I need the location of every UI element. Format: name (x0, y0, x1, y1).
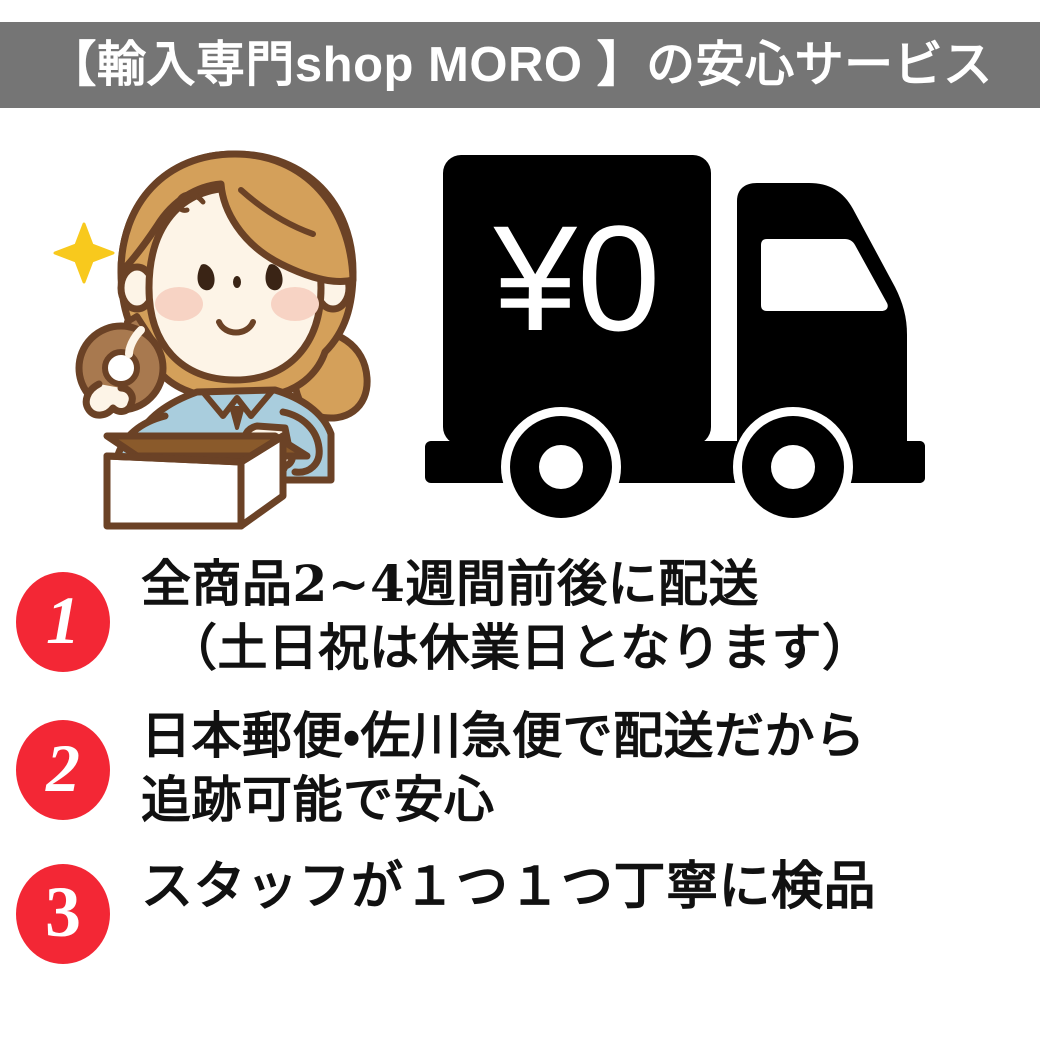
service-number-badge-3: 3 (16, 864, 110, 964)
truck-wheel-rear (501, 407, 621, 525)
service-number-badge-2: 2 (16, 720, 110, 820)
service-number-1: 1 (16, 572, 110, 672)
illustration-area: ¥0 ¥0 (0, 120, 1040, 540)
truck-cab (737, 183, 907, 445)
service-list: 1 全商品2~4週間前後に配送 （土日祝は休業日となります） 2 日本郵便・佐川… (0, 548, 1040, 964)
page-title: 【輸入専門shop MORO 】の安心サービス (47, 41, 992, 90)
woman-inspecting-package-illustration (45, 140, 425, 530)
truck-cargo-label: ¥0 (493, 194, 661, 362)
service-number-3: 3 (16, 864, 110, 964)
service-number-2: 2 (16, 720, 110, 820)
service-number-badge-1: 1 (16, 572, 110, 672)
sparkle-icon (55, 224, 113, 282)
header-banner: 【輸入専門shop MORO 】の安心サービス (0, 22, 1040, 108)
service-text-2-line-1: 日本郵便・佐川急便で配送だから (141, 704, 1040, 768)
service-text-2: 日本郵便・佐川急便で配送だから 追跡可能で安心 (141, 704, 1040, 832)
service-text-3: スタッフが１つ１つ丁寧に検品 (141, 854, 1040, 921)
service-item-3: 3 スタッフが１つ１つ丁寧に検品 (0, 854, 1040, 964)
truck-wheel-front (733, 407, 853, 525)
service-text-3-line-1: スタッフが１つ１つ丁寧に検品 (141, 854, 1040, 921)
free-shipping-truck-illustration: ¥0 ¥0 (425, 145, 1020, 525)
service-item-1: 1 全商品2~4週間前後に配送 （土日祝は休業日となります） (0, 552, 1040, 680)
service-item-2: 2 日本郵便・佐川急便で配送だから 追跡可能で安心 (0, 704, 1040, 832)
service-text-1-line-2: （土日祝は休業日となります） (141, 616, 1040, 680)
service-text-1: 全商品2~4週間前後に配送 （土日祝は休業日となります） (141, 552, 1040, 680)
service-text-2-line-2: 追跡可能で安心 (141, 768, 1040, 832)
service-text-1-line-1: 全商品2~4週間前後に配送 (141, 552, 1040, 616)
